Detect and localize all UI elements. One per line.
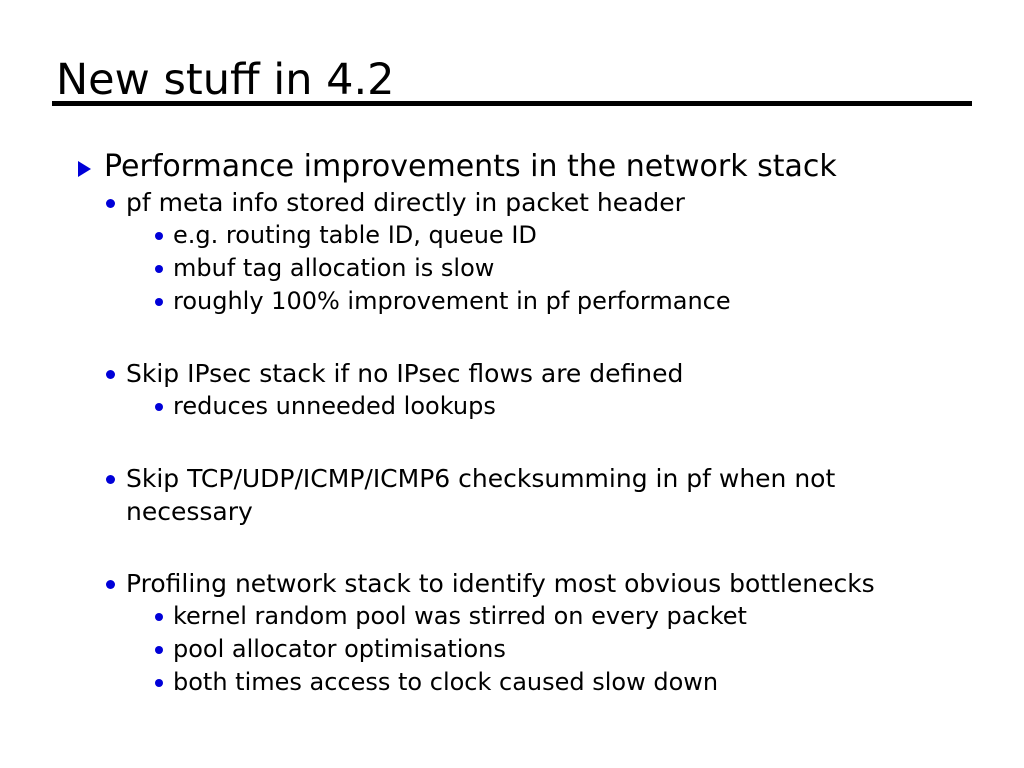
outline-item-text: Profiling network stack to identify most… bbox=[126, 567, 914, 600]
outline-group-spacer bbox=[0, 423, 1024, 462]
outline-item-level3: reduces unneeded lookups bbox=[0, 390, 1024, 423]
outline-item-level2: Skip TCP/UDP/ICMP/ICMP6 checksumming in … bbox=[0, 462, 1024, 528]
dot-bullet-icon bbox=[155, 403, 163, 411]
outline-group-spacer bbox=[0, 528, 1024, 567]
outline-item-text: Skip IPsec stack if no IPsec flows are d… bbox=[126, 357, 914, 390]
outline-item-text: both times access to clock caused slow d… bbox=[173, 666, 964, 699]
outline-item-level2: Skip IPsec stack if no IPsec flows are d… bbox=[0, 357, 1024, 390]
slide-title: New stuff in 4.2 bbox=[56, 55, 395, 105]
title-underline-rule bbox=[52, 101, 972, 106]
dot-bullet-icon bbox=[155, 298, 163, 306]
outline-item-level2: pf meta info stored directly in packet h… bbox=[0, 186, 1024, 219]
outline-item-text: reduces unneeded lookups bbox=[173, 390, 964, 423]
outline-item-text: kernel random pool was stirred on every … bbox=[173, 600, 964, 633]
outline-item-level3: mbuf tag allocation is slow bbox=[0, 252, 1024, 285]
outline-item-level1: Performance improvements in the network … bbox=[0, 148, 1024, 186]
dot-bullet-icon bbox=[106, 199, 115, 208]
outline-item-level3: roughly 100% improvement in pf performan… bbox=[0, 285, 1024, 318]
dot-bullet-icon bbox=[106, 475, 115, 484]
outline-item-text: e.g. routing table ID, queue ID bbox=[173, 219, 964, 252]
dot-bullet-icon bbox=[155, 613, 163, 621]
slide: New stuff in 4.2 Performance improvement… bbox=[0, 0, 1024, 768]
outline-group-spacer bbox=[0, 318, 1024, 357]
outline-item-text: roughly 100% improvement in pf performan… bbox=[173, 285, 964, 318]
dot-bullet-icon bbox=[155, 646, 163, 654]
outline-item-level3: pool allocator optimisations bbox=[0, 633, 1024, 666]
outline-item-text: mbuf tag allocation is slow bbox=[173, 252, 964, 285]
dot-bullet-icon bbox=[155, 232, 163, 240]
dot-bullet-icon bbox=[155, 679, 163, 687]
dot-bullet-icon bbox=[106, 370, 115, 379]
outline-item-text: pool allocator optimisations bbox=[173, 633, 964, 666]
slide-body-outline: Performance improvements in the network … bbox=[0, 148, 1024, 699]
triangle-right-bullet-icon bbox=[78, 161, 91, 177]
outline-item-text: Skip TCP/UDP/ICMP/ICMP6 checksumming in … bbox=[126, 462, 914, 528]
outline-item-level3: both times access to clock caused slow d… bbox=[0, 666, 1024, 699]
outline-item-text: Performance improvements in the network … bbox=[104, 148, 994, 186]
dot-bullet-icon bbox=[106, 580, 115, 589]
outline-item-level3: kernel random pool was stirred on every … bbox=[0, 600, 1024, 633]
dot-bullet-icon bbox=[155, 265, 163, 273]
outline-item-text: pf meta info stored directly in packet h… bbox=[126, 186, 914, 219]
outline-item-level3: e.g. routing table ID, queue ID bbox=[0, 219, 1024, 252]
outline-item-level2: Profiling network stack to identify most… bbox=[0, 567, 1024, 600]
